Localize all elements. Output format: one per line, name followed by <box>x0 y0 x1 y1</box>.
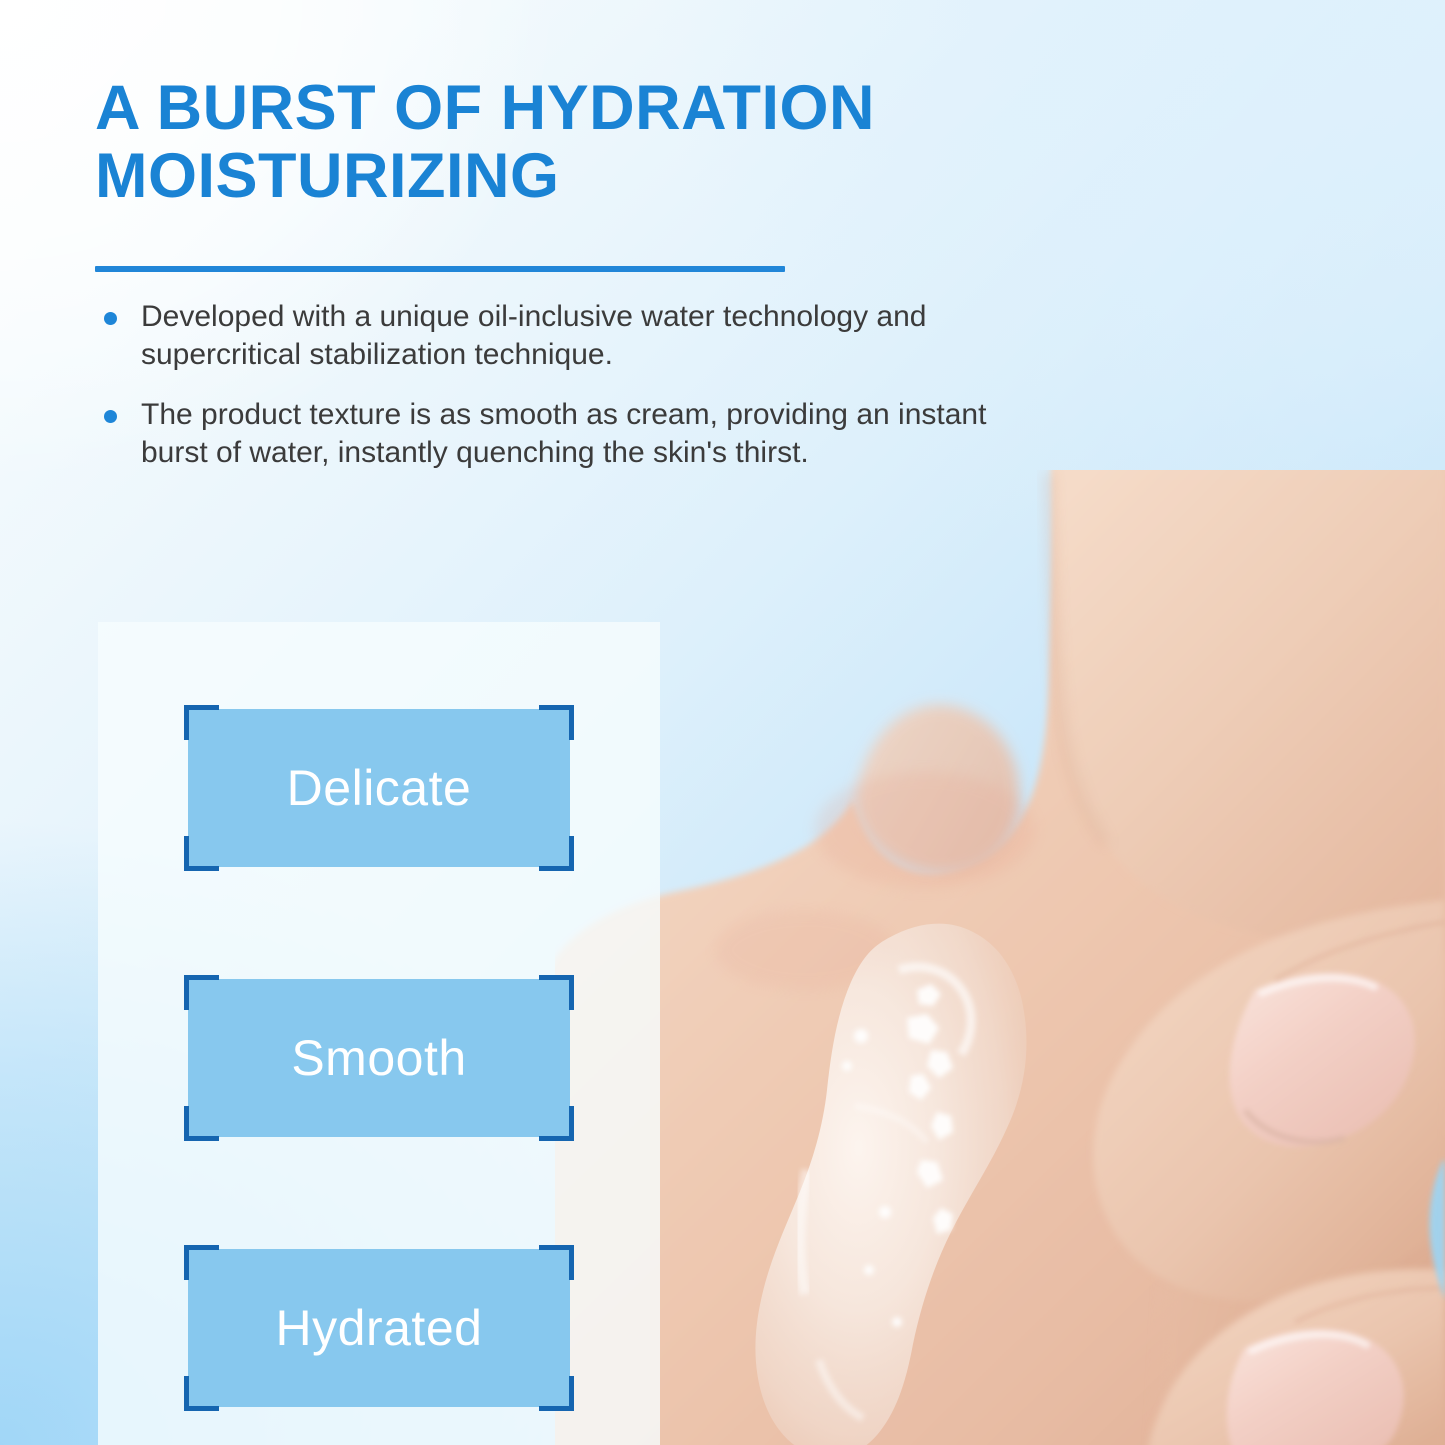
list-item: Developed with a unique oil-inclusive wa… <box>95 298 1055 374</box>
feature-label: Smooth <box>188 979 570 1137</box>
page-title: A BURST OF HYDRATION MOISTURIZING <box>95 74 1345 210</box>
list-item-text: Developed with a unique oil-inclusive wa… <box>141 300 926 371</box>
feature-label: Hydrated <box>188 1249 570 1407</box>
bullet-dot-icon <box>104 410 117 423</box>
feature-box-delicate: Delicate <box>188 709 570 867</box>
feature-label: Delicate <box>188 709 570 867</box>
bullet-dot-icon <box>104 312 117 325</box>
list-item: The product texture is as smooth as crea… <box>95 396 1055 472</box>
hand-photo <box>555 470 1445 1445</box>
feature-box-hydrated: Hydrated <box>188 1249 570 1407</box>
product-infographic: A BURST OF HYDRATION MOISTURIZING Develo… <box>0 0 1445 1445</box>
feature-box-smooth: Smooth <box>188 979 570 1137</box>
title-divider <box>95 266 785 272</box>
list-item-text: The product texture is as smooth as crea… <box>141 398 986 469</box>
benefits-list: Developed with a unique oil-inclusive wa… <box>95 298 1055 494</box>
